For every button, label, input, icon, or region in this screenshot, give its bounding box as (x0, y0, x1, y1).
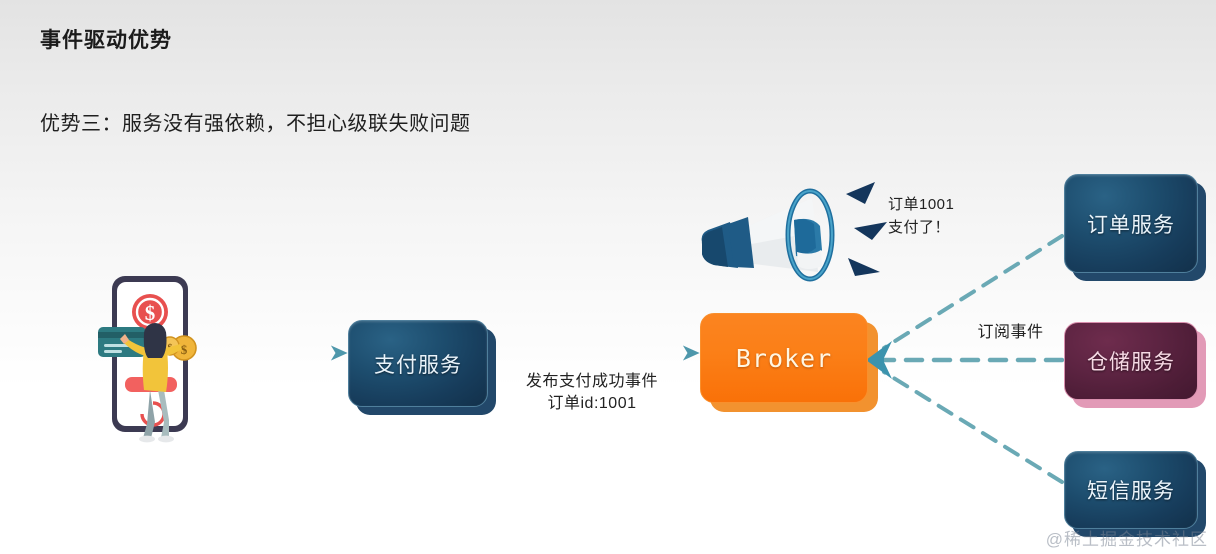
label-megaphone-message: 订单1001 支付了！ (888, 194, 1018, 239)
label-publish-line2: 订单id:1001 (497, 393, 687, 415)
node-broker-label: Broker (736, 344, 832, 373)
watermark: @稀土掘金技术社区 (1046, 525, 1208, 550)
node-sms-service-label: 短信服务 (1087, 475, 1175, 505)
slide-canvas: 事件驱动优势 优势三：服务没有强依赖，不担心级联失败问题 (0, 0, 1216, 554)
mobile-payment-illustration: $ $ $ (98, 272, 220, 444)
node-payment-service-label: 支付服务 (374, 349, 462, 379)
label-shout-line2: 支付了！ (888, 217, 1018, 240)
label-shout-line1: 订单1001 (888, 194, 1018, 217)
node-order-service[interactable]: 订单服务 (1064, 174, 1198, 273)
svg-text:$: $ (181, 342, 188, 357)
label-publish-line1: 发布支付成功事件 (497, 371, 687, 393)
edge-sms-subscribe (884, 372, 1062, 482)
page-title: 事件驱动优势 (40, 24, 172, 54)
slide-subtitle: 优势三：服务没有强依赖，不担心级联失败问题 (40, 107, 471, 136)
label-publish-event: 发布支付成功事件 订单id:1001 (497, 371, 687, 414)
node-storage-service-label: 仓储服务 (1087, 346, 1175, 376)
megaphone-icon (694, 172, 894, 297)
node-order-service-label: 订单服务 (1087, 209, 1175, 239)
node-broker[interactable]: Broker (700, 313, 868, 403)
node-payment-service[interactable]: 支付服务 (348, 320, 488, 407)
coin-dollar-symbol: $ (145, 301, 156, 325)
megaphone-sound-lines (846, 182, 887, 276)
node-storage-service[interactable]: 仓储服务 (1064, 322, 1198, 400)
label-subscribe-event: 订阅事件 (958, 322, 1063, 344)
node-sms-service[interactable]: 短信服务 (1064, 451, 1198, 529)
